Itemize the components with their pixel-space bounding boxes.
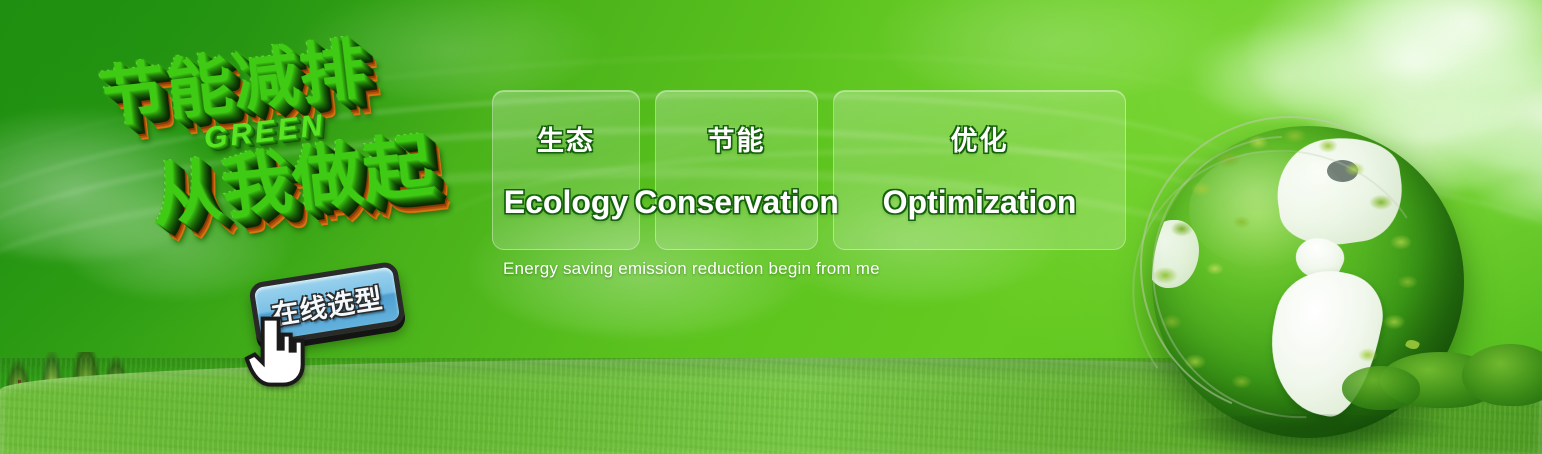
grass-texture: [0, 358, 1542, 454]
feature-card-cn-label: 生态: [537, 119, 595, 158]
feature-card-en-label: Optimization: [883, 184, 1077, 221]
feature-card-ecology[interactable]: 生态 Ecology: [492, 90, 640, 250]
feature-card-optimization[interactable]: 优化 Optimization: [833, 90, 1126, 250]
online-selection-label: 在线选型: [269, 276, 386, 332]
feature-card-cn-label: 优化: [951, 119, 1009, 158]
banner-tagline: Energy saving emission reduction begin f…: [503, 259, 880, 279]
feature-card-en-label: Ecology: [504, 184, 628, 221]
grass-field: [0, 358, 1542, 454]
green-energy-banner: 节能减排 GREEN 从我做起 在线选型 生态 Ecology 节能 Conse…: [0, 0, 1542, 454]
feature-card-cn-label: 节能: [708, 119, 766, 158]
feature-card-list: 生态 Ecology 节能 Conservation 优化 Optimizati…: [492, 90, 1126, 250]
feature-card-en-label: Conservation: [634, 184, 838, 221]
feature-card-conservation[interactable]: 节能 Conservation: [655, 90, 818, 250]
